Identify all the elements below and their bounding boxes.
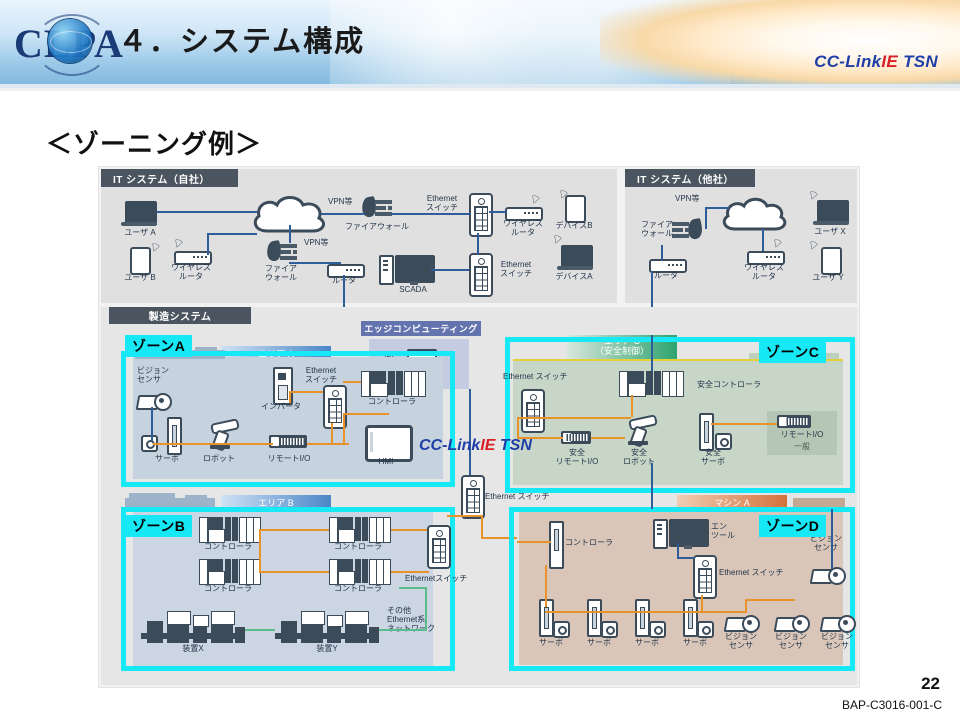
- label-vision-sensor-d2: ビジョン センサ: [769, 633, 813, 651]
- safety-remote-io-icon: [561, 431, 591, 444]
- ethernet-switch-icon-d: [693, 555, 717, 599]
- label-vision-sensor-d1: ビジョン センサ: [719, 633, 763, 651]
- label-eth-switch-it-1: Ethernet スイッチ: [417, 195, 467, 213]
- vision-sensor-icon-d1: [725, 615, 755, 630]
- label-eth-switch-mid-1: Ethernet スイッチ: [485, 493, 575, 502]
- label-safety-controller: 安全コントローラ: [689, 381, 769, 390]
- section-title: ＜ゾーニング例＞: [46, 124, 262, 161]
- panel-it-other-header: IT システム（他社）: [625, 169, 755, 187]
- label-eth-switch-d: Ethernet スイッチ: [719, 569, 809, 578]
- wire: [831, 509, 833, 569]
- zone-b-label: ゾーンB: [125, 515, 192, 537]
- monitor-scada-icon: [395, 255, 435, 283]
- wire: [151, 407, 153, 441]
- label-user-y: ユーザ Y: [803, 274, 853, 283]
- wire: [261, 529, 329, 531]
- label-vision-sensor-a: ビジョン センサ: [137, 367, 181, 385]
- machine-x-icon: [141, 607, 245, 643]
- firewall-icon-1: [267, 241, 297, 263]
- label-controller-b1: コントローラ: [197, 543, 259, 552]
- firewall-icon-2: [362, 197, 392, 219]
- label-hmi-a: HMI: [361, 458, 411, 467]
- panel-it-own-header: IT システム（自社）: [101, 169, 238, 187]
- label-controller-a: コントローラ: [363, 398, 421, 407]
- label-vision-sensor-d3: ビジョン センサ: [815, 633, 859, 651]
- label-user-a: ユーザ A: [113, 229, 167, 238]
- wire: [391, 213, 471, 215]
- label-safety-servo: 安全 サーボ: [691, 449, 735, 467]
- laptop-user-x-icon: [813, 200, 849, 225]
- controller-icon-d: [549, 521, 564, 569]
- cloud-icon-2: [719, 195, 789, 233]
- servo-motor-icon-d1: [553, 621, 570, 638]
- label-firewall-2: ファイアウォール: [342, 223, 412, 232]
- label-safety-robot: 安全 ロボット: [615, 449, 663, 467]
- controller-icon-a: [361, 371, 427, 397]
- cclink-ie-tsn-logo: CC-LinkIE TSN: [814, 52, 938, 72]
- wire: [701, 595, 703, 613]
- wire: [711, 423, 777, 425]
- zone-a-label: ゾーンA: [125, 335, 192, 357]
- wire: [545, 565, 547, 607]
- zone-d-label: ゾーンD: [759, 515, 826, 537]
- label-controller-b4: コントローラ: [327, 585, 389, 594]
- wire: [651, 335, 653, 371]
- label-eth-switch-a: Ethernet スイッチ: [297, 367, 345, 385]
- wire: [391, 571, 429, 573]
- label-servo-a: サーボ: [145, 455, 189, 464]
- label-device-b: デバイスB: [549, 222, 599, 231]
- ethernet-switch-icon-c: [521, 389, 545, 433]
- wire: [517, 417, 631, 419]
- wire: [259, 529, 261, 573]
- wire: [289, 391, 291, 403]
- ethernet-switch-icon-it-2: [469, 253, 493, 297]
- remote-io-icon-a: [269, 435, 307, 448]
- wire: [745, 599, 747, 613]
- watermark-part-3: TSN: [495, 437, 531, 454]
- label-controller-d: コントローラ: [565, 539, 625, 548]
- wire: [705, 207, 729, 209]
- wire: [745, 599, 795, 601]
- document-code: BAP-C3016-001-C: [842, 698, 942, 712]
- clpa-logo: CLPA: [14, 14, 114, 72]
- servo-icon-a: [167, 417, 182, 455]
- vision-sensor-icon-a: [137, 393, 167, 408]
- wire: [307, 443, 349, 445]
- pc-tower-icon-d: [653, 519, 668, 549]
- wire: [289, 225, 291, 243]
- wire: [661, 245, 663, 261]
- ethernet-switch-icon-it-1: [469, 193, 493, 237]
- label-machine-x: 装置X: [165, 645, 221, 654]
- label-controller-b3: コントローラ: [197, 585, 259, 594]
- label-servo-d1: サーボ: [531, 639, 571, 648]
- page-title: ４．システム構成: [118, 18, 365, 60]
- label-vpn-2: VPN等: [304, 239, 328, 248]
- label-inverter-a: インバータ: [255, 403, 307, 412]
- wire: [157, 211, 257, 213]
- label-vision-sensor-d0: ビジョン センサ: [803, 535, 849, 553]
- label-machine-y: 装置Y: [299, 645, 355, 654]
- controller-icon-b3: [199, 559, 261, 585]
- safety-controller-icon: [619, 371, 685, 397]
- wire: [343, 381, 361, 383]
- wire: [209, 233, 257, 235]
- controller-icon-b4: [329, 559, 391, 585]
- servo-icon-d4: [683, 599, 698, 637]
- label-eth-switch-c: Ethernet スイッチ: [503, 373, 593, 382]
- header-glow: [600, 0, 960, 88]
- wire: [489, 211, 507, 213]
- wire: [705, 207, 707, 229]
- laptop-user-a-icon: [121, 201, 157, 226]
- servo-motor-icon-d4: [697, 621, 714, 638]
- label-remote-io-c: リモートI/O: [767, 431, 837, 440]
- wire: [391, 529, 429, 531]
- label-remote-io-a: リモートI/O: [261, 455, 317, 464]
- vision-sensor-icon-d0: [811, 567, 841, 582]
- wire: [153, 443, 273, 445]
- laptop-device-a-icon: [557, 245, 593, 270]
- wire: [321, 213, 365, 215]
- header-divider: [0, 88, 960, 91]
- safety-robot-icon: [623, 415, 653, 445]
- panel-manufacturing-header: 製造システム: [109, 307, 251, 324]
- wire: [343, 413, 345, 443]
- factory-silhouette-d: [793, 493, 845, 507]
- vision-sensor-icon-d2: [775, 615, 805, 630]
- label-vpn-1: VPN等: [328, 198, 352, 207]
- machine-y-icon: [275, 607, 379, 643]
- wire: [379, 629, 427, 631]
- wire: [651, 463, 653, 509]
- wire: [517, 541, 551, 543]
- wire: [591, 437, 625, 439]
- panel-edge-header: エッジコンピューティング: [361, 321, 481, 336]
- wire: [431, 269, 469, 271]
- label-wireless-router-other: ワイヤレス ルータ: [738, 264, 790, 282]
- wire: [469, 389, 471, 475]
- wire: [245, 629, 275, 631]
- wire: [447, 515, 483, 517]
- label-user-x: ユーザ X: [805, 228, 855, 237]
- label-controller-b2: コントローラ: [327, 543, 389, 552]
- wire: [343, 413, 389, 415]
- tablet-user-y-icon: [821, 247, 842, 275]
- wire: [677, 543, 679, 557]
- globe-icon: [48, 19, 92, 63]
- wire: [399, 587, 427, 589]
- monitor-eng-tool-icon: [669, 519, 709, 547]
- wire: [331, 423, 333, 445]
- label-router-other: ルータ: [649, 272, 683, 281]
- controller-icon-b1: [199, 517, 261, 543]
- label-scada: SCADA: [385, 286, 441, 295]
- label-eth-switch-it-2: Ethernet スイッチ: [491, 261, 541, 279]
- wire: [289, 391, 323, 393]
- safety-servo-icon: [699, 413, 714, 451]
- label-engineering-tool: エン ツール: [711, 523, 747, 541]
- label-servo-d3: サーボ: [627, 639, 667, 648]
- label-firewall-1: ファイア ウォール: [251, 265, 311, 283]
- page-number: 22: [921, 674, 940, 694]
- wire: [631, 395, 633, 417]
- controller-icon-b2: [329, 517, 391, 543]
- wire: [545, 611, 745, 613]
- wire: [289, 262, 341, 264]
- wire: [425, 587, 427, 631]
- label-vpn-other: VPN等: [675, 195, 699, 204]
- ethernet-switch-icon-mid-1: [461, 475, 485, 519]
- tablet-device-b-icon: [565, 195, 586, 223]
- brand-part-tsn: TSN: [903, 52, 938, 71]
- label-servo-d4: サーボ: [675, 639, 715, 648]
- label-wireless-router-1: ワイヤレス ルータ: [165, 264, 217, 282]
- cclink-ie-tsn-watermark: CC-LinkIE TSN: [419, 437, 532, 455]
- remote-io-icon-c: [777, 415, 811, 428]
- wire: [207, 233, 209, 255]
- label-user-b: ユーザ B: [113, 274, 167, 283]
- servo-motor-icon-d2: [601, 621, 618, 638]
- wire: [762, 229, 764, 251]
- servo-motor-icon-d3: [649, 621, 666, 638]
- label-firewall-other: ファイア ウォール: [627, 221, 673, 239]
- servo-icon-d3: [635, 599, 650, 637]
- firewall-icon-3: [672, 219, 702, 241]
- zone-c-label: ゾーンC: [759, 341, 826, 363]
- watermark-part-2: IE: [480, 437, 495, 454]
- label-general: 一般: [767, 443, 837, 452]
- label-robot-a: ロボット: [197, 455, 241, 464]
- wire: [517, 417, 519, 439]
- watermark-part-1: CC-Link: [419, 437, 480, 454]
- wire: [261, 571, 329, 573]
- wire: [481, 515, 483, 537]
- ethernet-switch-icon-mid-2: [427, 525, 451, 569]
- factory-silhouette-b: [125, 493, 215, 507]
- label-wireless-router-2: ワイヤレス ルータ: [498, 220, 548, 238]
- servo-icon-d2: [587, 599, 602, 637]
- brand-part-ie: IE: [881, 52, 898, 71]
- label-eth-switch-mid-2: Ethernetスイッチ: [405, 575, 495, 584]
- wire: [677, 557, 695, 559]
- label-servo-d2: サーボ: [579, 639, 619, 648]
- vision-sensor-icon-d3: [821, 615, 851, 630]
- pc-tower-icon: [379, 255, 394, 285]
- system-architecture-diagram: IT システム（自社） ユーザ A ⌔ ユーザ B ⌔ ワイヤレス ルータ ファ…: [98, 166, 860, 688]
- label-device-a: デバイスA: [549, 273, 599, 282]
- label-safety-remote-io: 安全 リモートI/O: [549, 449, 605, 467]
- slide-header: CLPA ４．システム構成 CC-LinkIE TSN: [0, 0, 960, 88]
- wire: [477, 233, 479, 255]
- brand-part-cclink: CC-Link: [814, 52, 881, 71]
